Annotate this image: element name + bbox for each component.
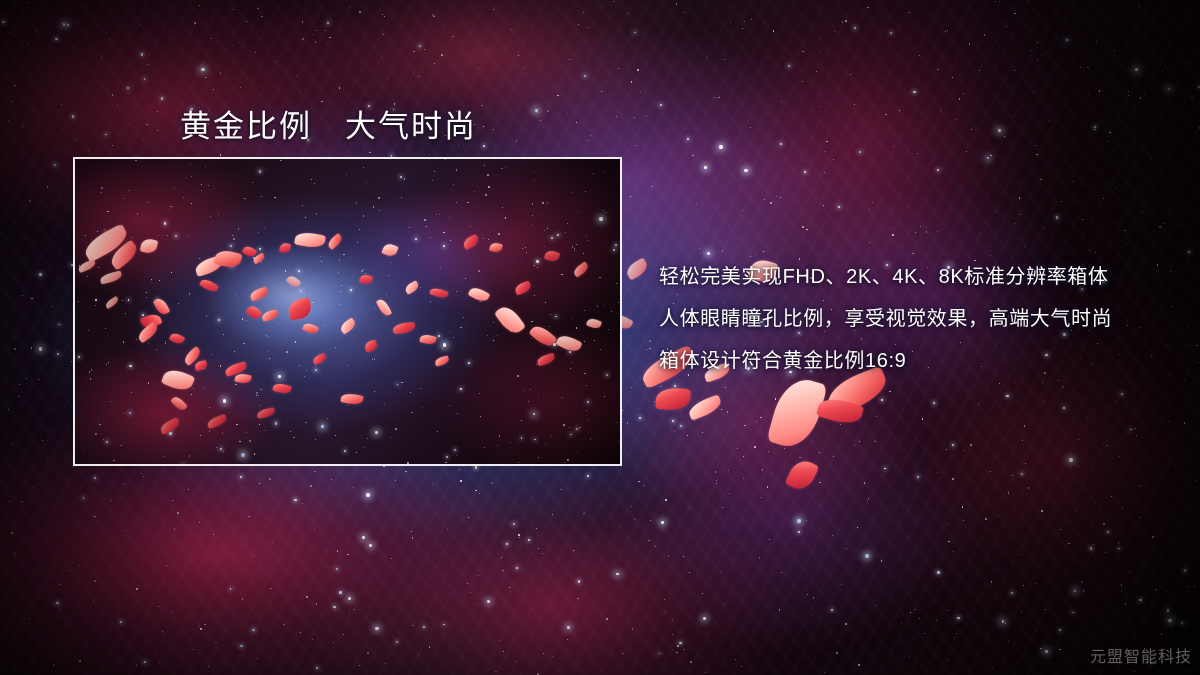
- petal: [624, 257, 650, 280]
- body-line-2: 人体眼睛瞳孔比例，享受视觉效果，高端大气时尚: [659, 298, 1112, 340]
- petal: [655, 387, 690, 411]
- petal: [785, 456, 820, 493]
- slide-canvas: 黄金比例 大气时尚 轻松完美实现FHD、2K、4K、8K标准分辨率箱体 人体眼睛…: [0, 0, 1200, 675]
- body-line-3: 箱体设计符合黄金比例16:9: [659, 340, 1112, 382]
- petal: [686, 394, 723, 421]
- body-line-1: 轻松完美实现FHD、2K、4K、8K标准分辨率箱体: [659, 256, 1112, 298]
- company-watermark: 元盟智能科技: [1090, 643, 1192, 667]
- galaxy-photo-frame: [73, 157, 622, 466]
- slide-body-text: 轻松完美实现FHD、2K、4K、8K标准分辨率箱体 人体眼睛瞳孔比例，享受视觉效…: [659, 256, 1112, 382]
- galaxy-photo-vignette: [75, 159, 620, 464]
- slide-title: 黄金比例 大气时尚: [180, 101, 477, 146]
